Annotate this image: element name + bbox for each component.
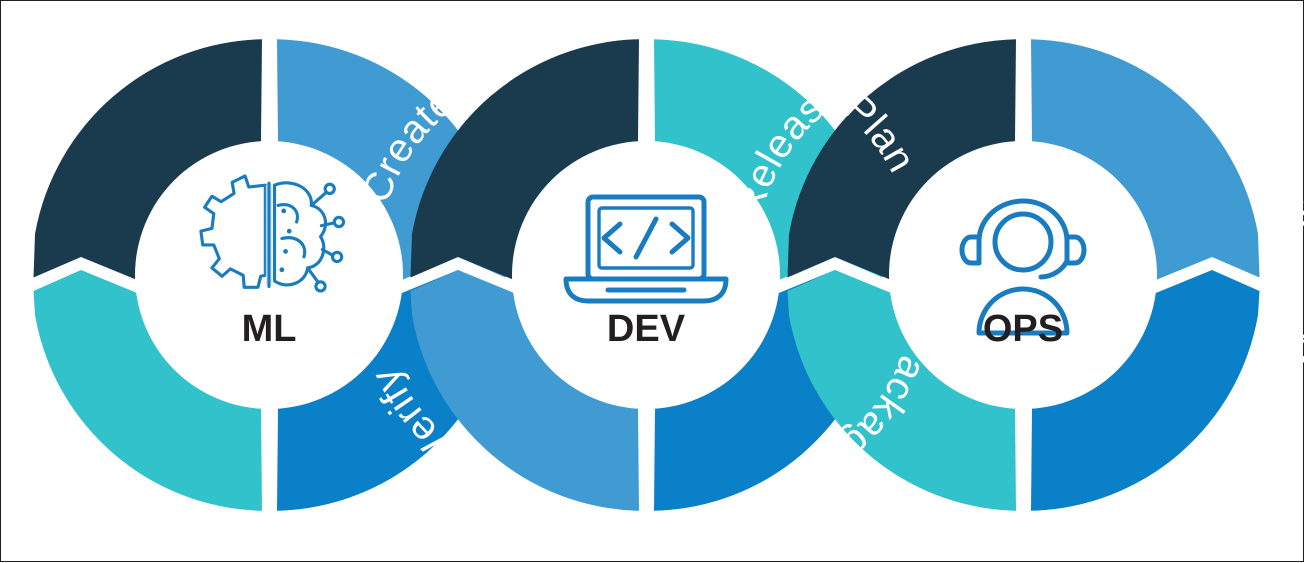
hub-label-dev: DEV	[607, 308, 686, 350]
hub-label-ops: OPS	[983, 308, 1063, 350]
mlops-cycle-diagram: ML DEV	[1, 1, 1304, 563]
diagram-canvas: ML DEV	[0, 0, 1304, 562]
hub-label-ml: ML	[242, 308, 297, 350]
hub-dev	[512, 141, 780, 409]
